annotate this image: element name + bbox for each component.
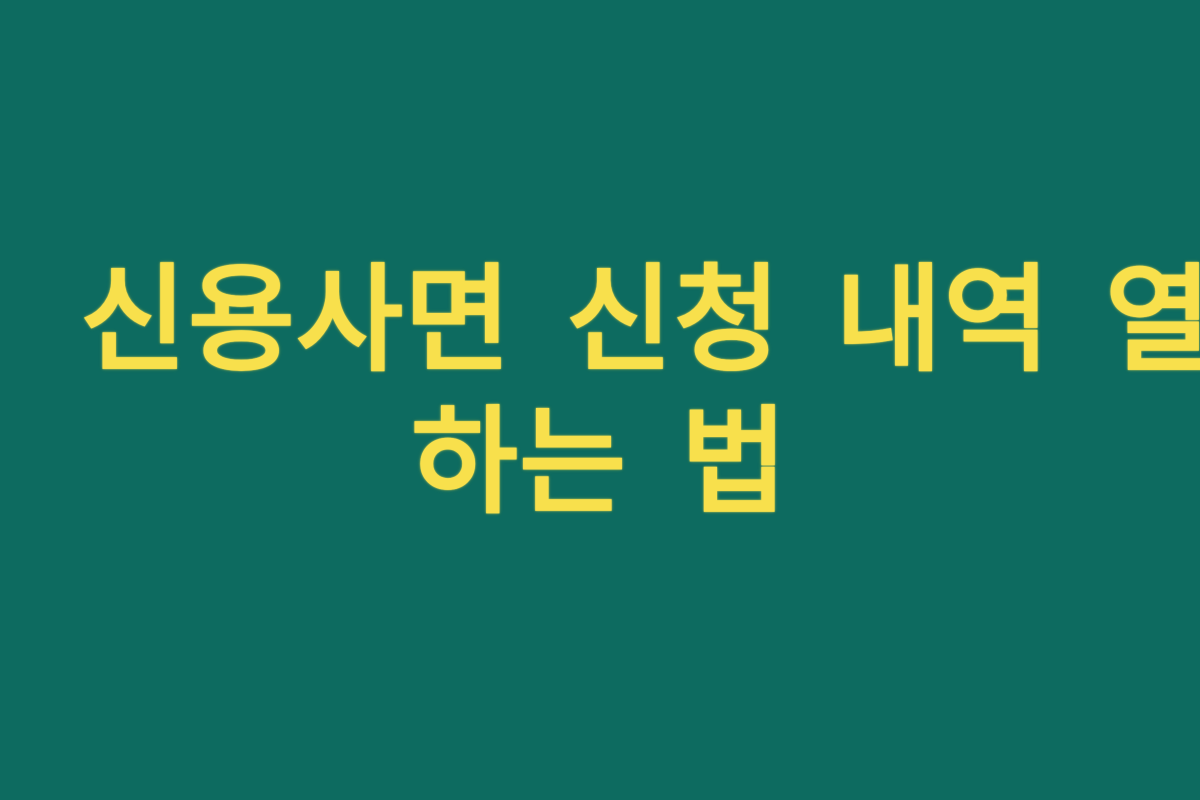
title-line-2: 하는 법: [80, 392, 1120, 534]
page-title: 신용사면 신청 내역 열람 하는 법: [70, 250, 1130, 533]
thumbnail-card: 신용사면 신청 내역 열람 하는 법: [0, 0, 1200, 800]
title-line-1: 신용사면 신청 내역 열람: [80, 250, 1120, 392]
